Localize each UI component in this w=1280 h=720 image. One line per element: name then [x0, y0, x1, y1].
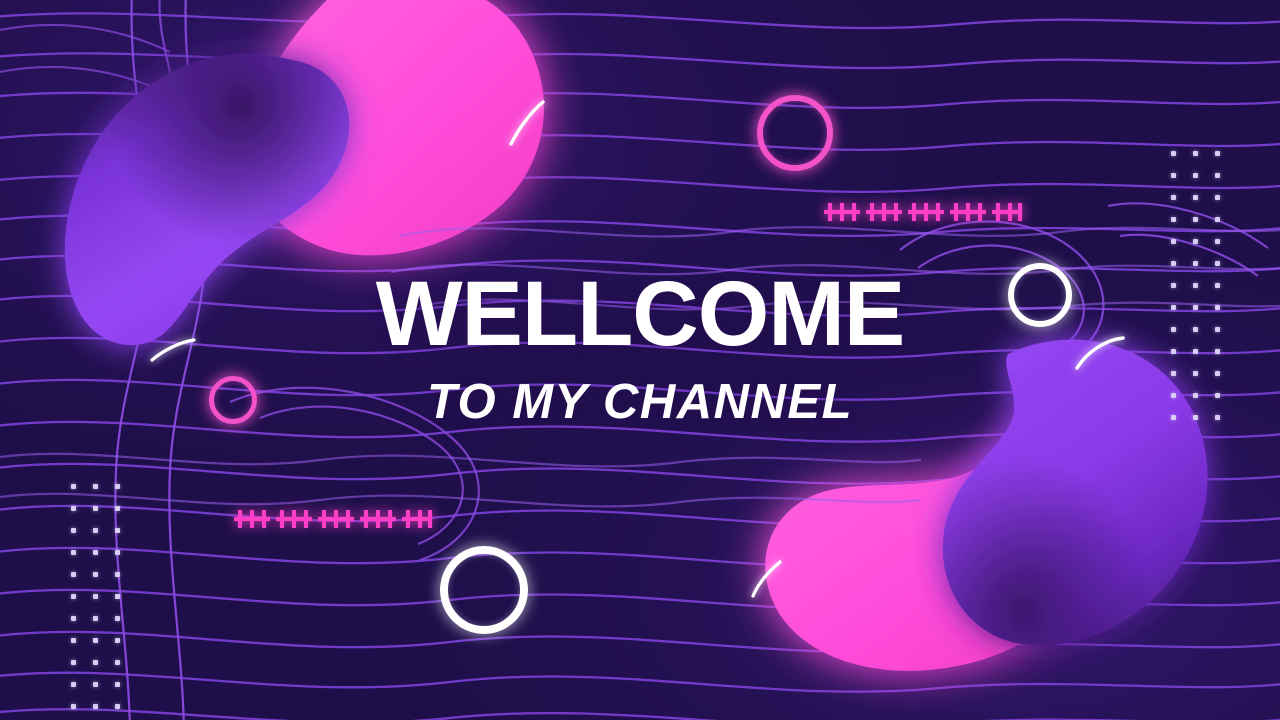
page-title: WELLCOME — [0, 268, 1280, 360]
ring-white-bottom — [440, 546, 528, 634]
channel-intro-banner: WELLCOME TO MY CHANNEL — [0, 0, 1280, 720]
track-top-right — [822, 198, 1022, 226]
arc-top-center — [505, 98, 551, 150]
ring-pink-top-right — [757, 95, 833, 171]
arc-bottom-left — [748, 558, 788, 600]
page-subtitle: TO MY CHANNEL — [0, 378, 1280, 427]
headline-block: WELLCOME TO MY CHANNEL — [0, 268, 1280, 427]
track-bottom-left — [232, 505, 432, 533]
dot-grid-bottom-left — [62, 475, 128, 717]
